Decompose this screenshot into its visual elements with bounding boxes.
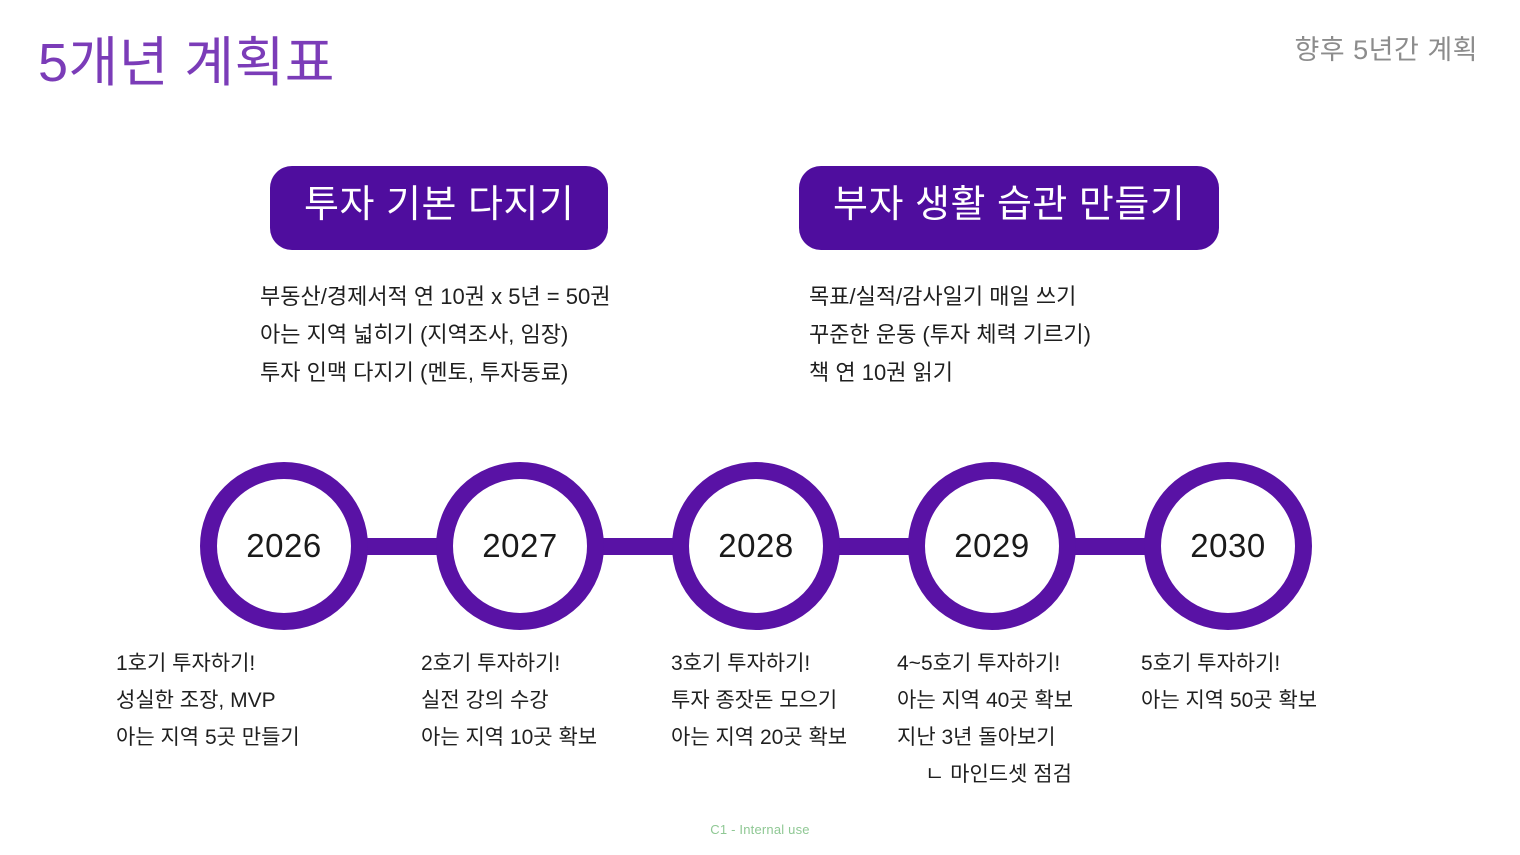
- milestone-column-2026: 1호기 투자하기! 성실한 조장, MVP 아는 지역 5곳 만들기: [116, 645, 300, 756]
- milestone-line: 아는 지역 5곳 만들기: [116, 719, 300, 756]
- milestone-line: 성실한 조장, MVP: [116, 682, 300, 719]
- timeline: 2026 2027 2028 2029 2030: [0, 462, 1520, 634]
- theme-pill-rich-habits[interactable]: 부자 생활 습관 만들기: [799, 166, 1219, 250]
- milestone-column-2030: 5호기 투자하기! 아는 지역 50곳 확보: [1141, 645, 1317, 719]
- theme-column-1: 투자 기본 다지기 부동산/경제서적 연 10권 x 5년 = 50권 아는 지…: [252, 166, 672, 392]
- milestone-line: 4~5호기 투자하기!: [897, 645, 1073, 682]
- milestone-line: 아는 지역 10곳 확보: [421, 719, 597, 756]
- milestone-column-2027: 2호기 투자하기! 실전 강의 수강 아는 지역 10곳 확보: [421, 645, 597, 756]
- milestone-line: 아는 지역 50곳 확보: [1141, 682, 1317, 719]
- theme-line: 부동산/경제서적 연 10권 x 5년 = 50권: [260, 278, 672, 316]
- theme-line: 책 연 10권 읽기: [809, 354, 1235, 392]
- milestone-line: 아는 지역 20곳 확보: [671, 719, 847, 756]
- slide-subtitle: 향후 5년간 계획: [1294, 28, 1478, 67]
- timeline-node-year: 2026: [246, 527, 321, 565]
- milestone-line: 실전 강의 수강: [421, 682, 597, 719]
- timeline-node-year: 2028: [718, 527, 793, 565]
- milestone-line: 2호기 투자하기!: [421, 645, 597, 682]
- timeline-node-2028[interactable]: 2028: [672, 462, 840, 630]
- timeline-node-year: 2027: [482, 527, 557, 565]
- timeline-node-year: 2030: [1190, 527, 1265, 565]
- milestone-column-2029: 4~5호기 투자하기! 아는 지역 40곳 확보 지난 3년 돌아보기 ㄴ 마인…: [897, 645, 1073, 793]
- theme-column-2: 부자 생활 습관 만들기 목표/실적/감사일기 매일 쓰기 꾸준한 운동 (투자…: [795, 166, 1235, 392]
- slide-canvas: 5개년 계획표 향후 5년간 계획 투자 기본 다지기 부동산/경제서적 연 1…: [0, 0, 1520, 855]
- theme-line: 꾸준한 운동 (투자 체력 기르기): [809, 316, 1235, 354]
- confidentiality-footer: C1 - Internal use: [0, 822, 1520, 837]
- milestone-line: 5호기 투자하기!: [1141, 645, 1317, 682]
- timeline-node-2029[interactable]: 2029: [908, 462, 1076, 630]
- milestone-line: 투자 종잣돈 모으기: [671, 682, 847, 719]
- timeline-node-2030[interactable]: 2030: [1144, 462, 1312, 630]
- theme-line: 목표/실적/감사일기 매일 쓰기: [809, 278, 1235, 316]
- page-title: 5개년 계획표: [38, 18, 335, 97]
- theme-pill-investment-basics[interactable]: 투자 기본 다지기: [270, 166, 608, 250]
- theme-line: 아는 지역 넓히기 (지역조사, 임장): [260, 316, 672, 354]
- milestone-column-2028: 3호기 투자하기! 투자 종잣돈 모으기 아는 지역 20곳 확보: [671, 645, 847, 756]
- milestone-line: 1호기 투자하기!: [116, 645, 300, 682]
- milestone-line-sub: ㄴ 마인드셋 점검: [897, 756, 1073, 793]
- milestone-line: 3호기 투자하기!: [671, 645, 847, 682]
- milestone-line: 지난 3년 돌아보기: [897, 719, 1073, 756]
- theme-line-list-2: 목표/실적/감사일기 매일 쓰기 꾸준한 운동 (투자 체력 기르기) 책 연 …: [795, 278, 1235, 392]
- theme-area: 투자 기본 다지기 부동산/경제서적 연 10권 x 5년 = 50권 아는 지…: [0, 166, 1520, 426]
- timeline-node-2026[interactable]: 2026: [200, 462, 368, 630]
- theme-line-list-1: 부동산/경제서적 연 10권 x 5년 = 50권 아는 지역 넓히기 (지역조…: [252, 278, 672, 392]
- theme-line: 투자 인맥 다지기 (멘토, 투자동료): [260, 354, 672, 392]
- milestone-line: 아는 지역 40곳 확보: [897, 682, 1073, 719]
- timeline-node-year: 2029: [954, 527, 1029, 565]
- timeline-node-2027[interactable]: 2027: [436, 462, 604, 630]
- milestone-list: 1호기 투자하기! 성실한 조장, MVP 아는 지역 5곳 만들기 2호기 투…: [0, 645, 1520, 805]
